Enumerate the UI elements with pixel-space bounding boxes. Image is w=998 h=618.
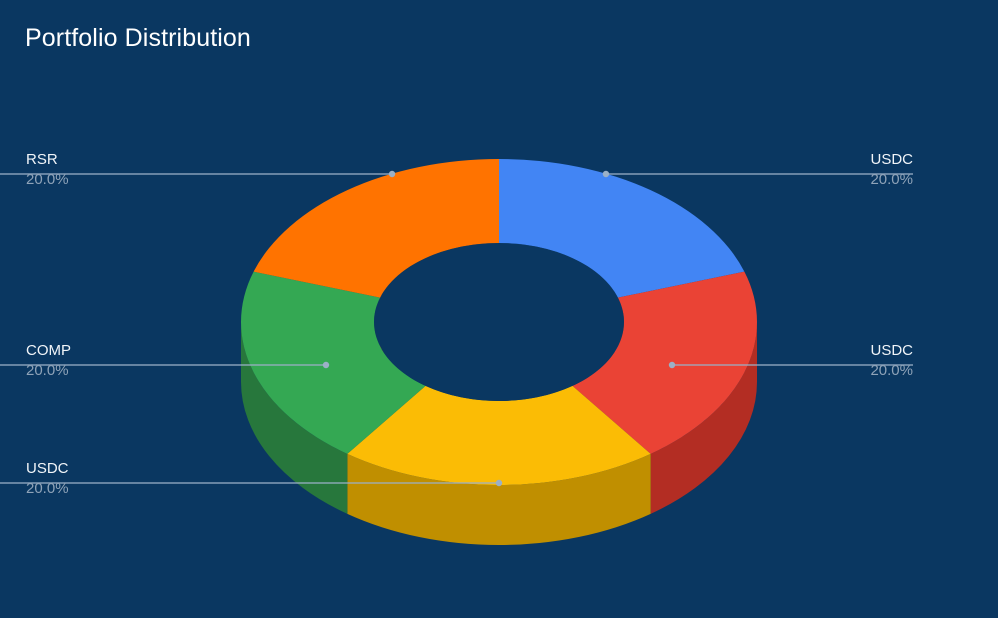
callout-percent: 20.0% — [26, 360, 71, 378]
leader-dot — [669, 362, 675, 368]
leader-dot — [323, 362, 329, 368]
callout-label: USDC — [26, 461, 69, 478]
callout-rsr-4: RSR20.0% — [26, 152, 69, 187]
callout-comp-3: COMP20.0% — [26, 343, 71, 378]
donut-center-hole — [374, 243, 624, 401]
callout-label: RSR — [26, 152, 69, 169]
chart-container: Portfolio Distribution USDC20.0%USDC20.0… — [0, 0, 998, 618]
leader-dot — [496, 480, 502, 486]
leader-dot — [389, 171, 395, 177]
callout-usdc-1: USDC20.0% — [870, 343, 913, 378]
callout-usdc-0: USDC20.0% — [870, 152, 913, 187]
leader-dot — [603, 171, 609, 177]
donut-chart-3d — [0, 0, 998, 618]
callout-percent: 20.0% — [870, 169, 913, 187]
callout-percent: 20.0% — [26, 169, 69, 187]
callout-percent: 20.0% — [26, 478, 69, 496]
donut-slices-group — [241, 159, 757, 545]
callout-label: USDC — [870, 343, 913, 360]
callout-label: COMP — [26, 343, 71, 360]
callout-label: USDC — [870, 152, 913, 169]
callout-percent: 20.0% — [870, 360, 913, 378]
callout-usdc-2: USDC20.0% — [26, 461, 69, 496]
